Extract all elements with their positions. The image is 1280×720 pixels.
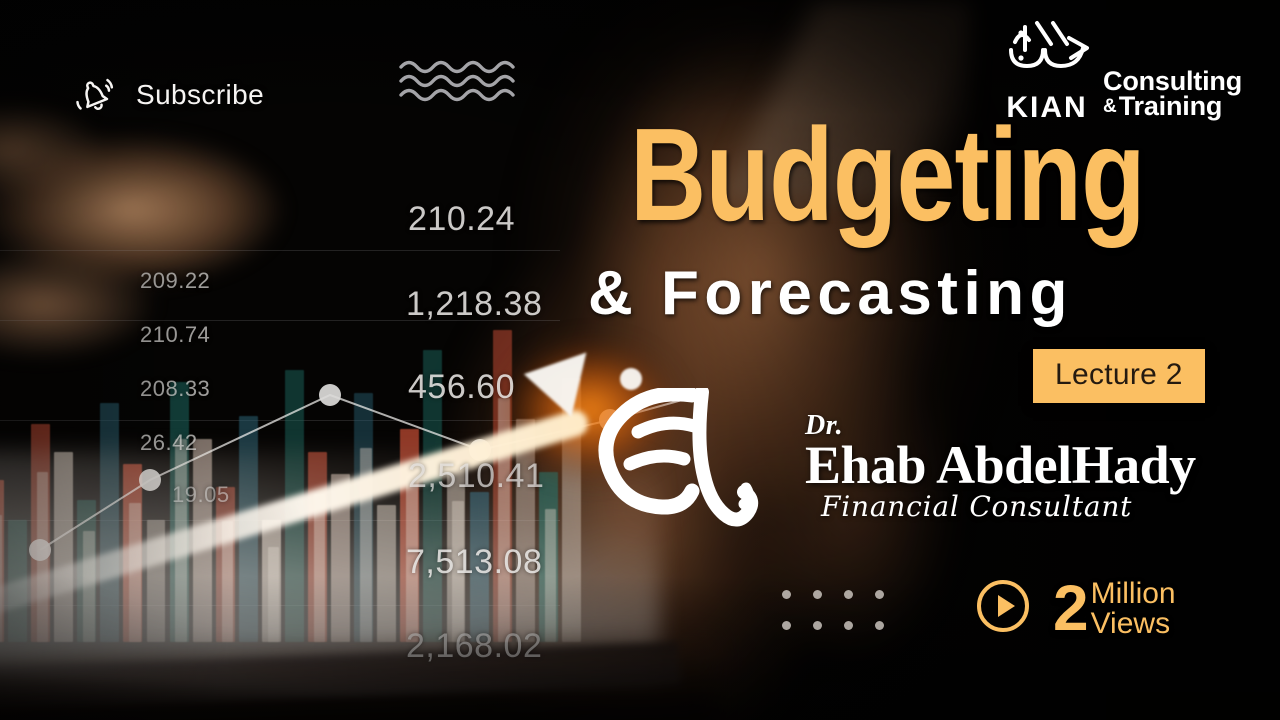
arrow-endpoint-dot	[620, 368, 642, 390]
bell-icon	[70, 70, 120, 120]
page-title: Budgeting	[630, 112, 1145, 239]
value-label: 209.22	[140, 268, 210, 294]
views-noun: Views	[1091, 609, 1176, 639]
views-unit: Million	[1091, 579, 1176, 609]
value-label: 2,510.41	[408, 457, 544, 496]
ea-monogram-icon	[596, 388, 791, 533]
lecture-badge: Lecture 2	[1033, 349, 1205, 403]
chart-gridline	[0, 250, 560, 251]
page-subtitle: & Forecasting	[588, 258, 1073, 329]
value-label: 19.05	[172, 482, 230, 508]
value-label: 210.74	[140, 322, 210, 348]
presenter-name: Ehab AbdelHady	[805, 438, 1196, 493]
value-label: 1,218.38	[406, 285, 542, 324]
chart-node	[319, 384, 341, 406]
kian-calligraphy-mark	[1001, 14, 1093, 91]
wave-lines-icon	[398, 55, 528, 112]
youtube-thumbnail: 209.22 210.74 208.33 26.42 19.05 210.24 …	[0, 0, 1280, 720]
subscribe-cta[interactable]: Subscribe	[70, 70, 264, 120]
value-label: 208.33	[140, 376, 210, 402]
value-label: 210.24	[408, 200, 515, 239]
subscribe-label: Subscribe	[136, 79, 264, 111]
views-count: 2	[1053, 580, 1089, 638]
play-circle-icon	[975, 578, 1031, 639]
presenter-block: Dr. Ehab AbdelHady Financial Consultant	[805, 412, 1196, 521]
views-badge: 2 Million Views	[975, 578, 1176, 639]
dot-grid-icon	[782, 590, 906, 652]
value-label: 456.60	[408, 368, 515, 407]
value-label: 7,513.08	[406, 543, 542, 582]
value-label: 2,168.02	[406, 627, 542, 666]
value-label: 26.42	[140, 430, 198, 456]
presenter-role: Financial Consultant	[821, 492, 1196, 521]
